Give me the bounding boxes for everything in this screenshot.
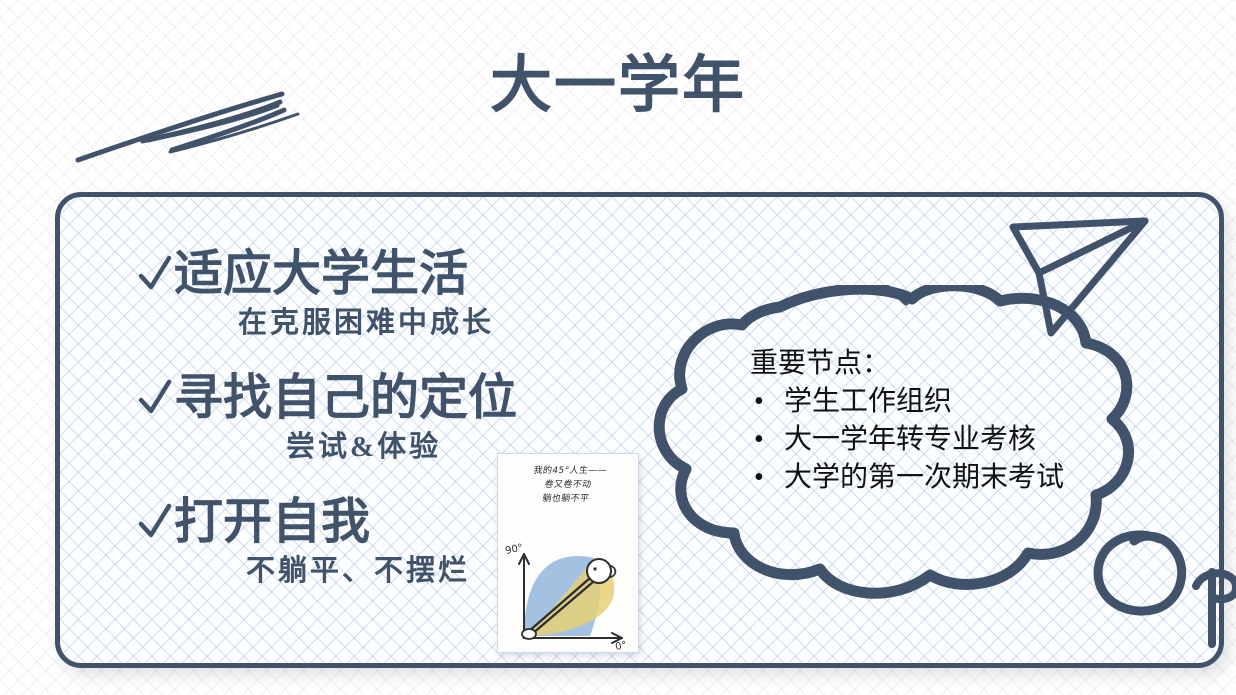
slide-root: 大一学年 适应大学生活 在克服困难中成长 xyxy=(0,0,1236,695)
list-item-label: 大一学年转专业考核 xyxy=(784,424,1036,455)
content-card: 适应大学生活 在克服困难中成长 寻找自己的定位 尝试&体验 xyxy=(55,192,1224,668)
check-icon xyxy=(138,502,172,542)
illustration-card: 我的45°人生—— 卷又卷不动 躺也躺不平 xyxy=(497,453,639,653)
bullet-item-2: 寻找自己的定位 尝试&体验 xyxy=(138,369,608,465)
hand-drawn-circle-icon xyxy=(1090,525,1200,625)
hand-drawn-curl-icon xyxy=(1186,552,1236,648)
list-item: • 大一学年转专业考核 xyxy=(750,421,1130,459)
speech-bubble-lead: 重要节点： xyxy=(750,345,1130,383)
list-item: • 学生工作组织 xyxy=(750,383,1130,421)
handwriting-line-1: 我的45°人生—— xyxy=(499,464,639,478)
bullet-dot-icon: • xyxy=(754,383,764,421)
list-item: • 大学的第一次期末考试 xyxy=(750,459,1130,497)
bullet-heading-row-2: 寻找自己的定位 xyxy=(138,369,608,427)
bullet-dot-icon: • xyxy=(754,459,764,497)
bullet-item-1: 适应大学生活 在克服困难中成长 xyxy=(138,245,608,341)
check-icon xyxy=(138,378,172,418)
illustration-handwriting: 我的45°人生—— 卷又卷不动 躺也躺不平 xyxy=(497,464,639,506)
speech-bubble-text: 重要节点： • 学生工作组织 • 大一学年转专业考核 • 大学的第一次期末考试 xyxy=(750,345,1130,497)
bullet-heading-2: 寻找自己的定位 xyxy=(174,369,517,427)
speech-bubble-items: • 学生工作组织 • 大一学年转专业考核 • 大学的第一次期末考试 xyxy=(750,383,1130,497)
list-item-label: 大学的第一次期末考试 xyxy=(784,462,1064,493)
handwriting-line-3: 躺也躺不平 xyxy=(497,492,637,506)
scribble-lines-decoration xyxy=(72,72,312,172)
bullet-dot-icon: • xyxy=(754,421,764,459)
check-icon xyxy=(138,254,172,294)
bullet-heading-3: 打开自我 xyxy=(174,493,370,551)
paper-plane-icon xyxy=(1005,211,1155,341)
list-item-label: 学生工作组织 xyxy=(784,386,952,417)
bullet-subtitle-1: 在克服困难中成长 xyxy=(138,305,608,341)
bullet-heading-1: 适应大学生活 xyxy=(174,245,468,303)
axis-label-top: 90° xyxy=(504,542,524,556)
axis-label-right: 0° xyxy=(614,640,627,652)
handwriting-line-2: 卷又卷不动 xyxy=(497,478,639,492)
bullet-heading-row-1: 适应大学生活 xyxy=(138,245,608,303)
